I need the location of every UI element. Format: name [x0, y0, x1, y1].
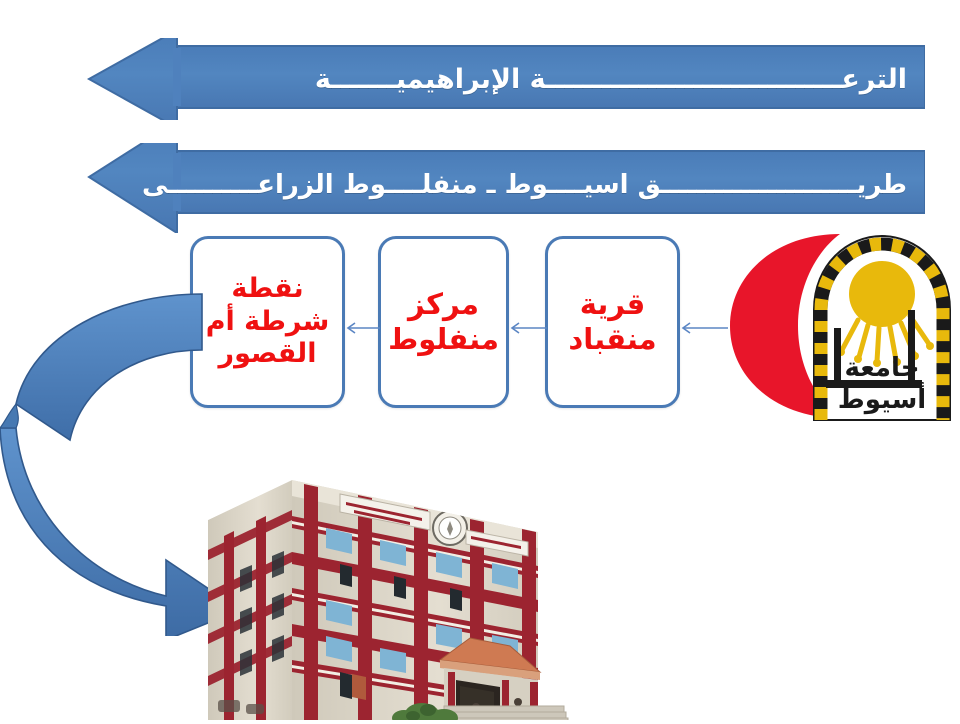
- flow-box-manfalut-center[interactable]: مركز منفلوط: [378, 236, 509, 408]
- emblem-text-top: جامعة: [844, 353, 919, 383]
- banner-arrow-road: طريــــــــــــــــــــــق اسيــــوط ـ م…: [85, 143, 925, 233]
- connector-arrow-center-to-police: [345, 320, 380, 334]
- building-emblem-plaque: [433, 511, 467, 545]
- flow-box-manqabad-village-label: قرية منقباد: [556, 287, 669, 358]
- flow-box-manqabad-village[interactable]: قرية منقباد: [545, 236, 680, 408]
- assiut-university-emblem-icon: جامعة أسيوط: [814, 236, 950, 420]
- connector-arrow-center-to-police-icon: [345, 321, 380, 335]
- banner-arrow-canal: الترعــــــــــــــــــــــــــــــــة ا…: [85, 38, 925, 120]
- banner-arrow-canal-shape: [85, 38, 925, 120]
- assiut-university-red-crescent-logo-icon: جامعة أسيوط: [722, 224, 960, 424]
- diagram-canvas: الترعــــــــــــــــــــــــــــــــة ا…: [0, 0, 960, 720]
- sun-disc: [849, 261, 915, 327]
- assiut-university-hospital-building: مستشفى جامعة أسيوط: [208, 424, 576, 720]
- building-left-facade: [208, 480, 292, 720]
- connector-arrow-village-to-center-icon: [509, 321, 547, 335]
- banner-arrow-road-shape: [85, 143, 925, 233]
- assiut-university-hospital-building-image: [208, 424, 576, 720]
- assiut-university-red-crescent-logo: جامعة أسيوط جامعة أسيوط: [722, 224, 960, 424]
- emblem-text-bottom: أسيوط: [838, 382, 926, 415]
- flow-box-manfalut-center-label: مركز منفلوط: [388, 287, 499, 358]
- connector-arrow-logo-to-village-icon: [680, 321, 728, 335]
- connector-arrow-logo-to-village: [680, 320, 728, 334]
- connector-arrow-village-to-center: [509, 320, 547, 334]
